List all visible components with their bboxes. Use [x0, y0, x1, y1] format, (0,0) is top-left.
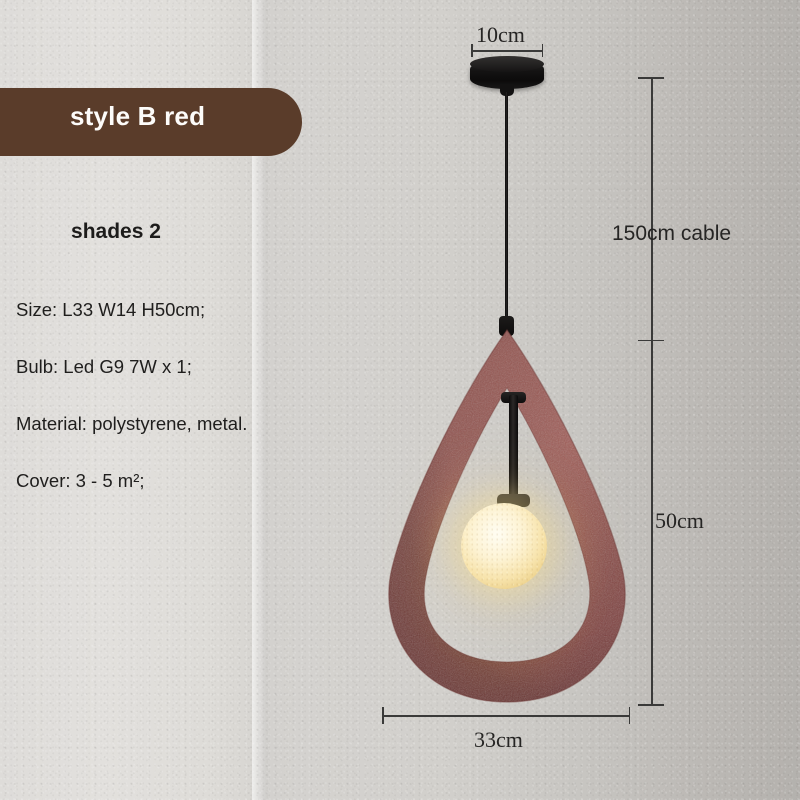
shade-width-dimension-line: [382, 715, 630, 717]
cable-length-label: 150cm cable: [612, 222, 731, 246]
canopy-width-tick-left: [471, 44, 473, 57]
canopy-width-label: 10cm: [476, 22, 525, 48]
product-image-canvas: style B red shades 2 Size: L33 W14 H50cm…: [0, 0, 800, 800]
shade-height-tick-bottom: [638, 704, 664, 706]
spec-bulb: Bulb: Led G9 7W x 1;: [16, 356, 192, 378]
shade-height-dimension-line: [651, 341, 653, 705]
shade-width-label: 33cm: [474, 727, 523, 753]
cable-length-tick-top: [638, 77, 664, 79]
light-bulb-globe: [461, 503, 547, 589]
spec-size: Size: L33 W14 H50cm;: [16, 299, 205, 321]
suspension-cable: [505, 92, 508, 330]
shade-width-tick-right: [629, 707, 631, 724]
shade-height-label: 50cm: [655, 508, 704, 534]
ceiling-canopy-top: [470, 56, 544, 72]
canopy-width-tick-right: [542, 44, 544, 57]
bulb-stem: [509, 395, 518, 499]
cable-length-dimension-line: [651, 77, 653, 341]
spec-cover: Cover: 3 - 5 m²;: [16, 470, 145, 492]
spec-material: Material: polystyrene, metal.: [16, 413, 247, 435]
shade-width-tick-left: [382, 707, 384, 724]
product-subtitle: shades 2: [0, 220, 232, 244]
canopy-width-dimension-line: [471, 50, 543, 52]
style-badge-label: style B red: [70, 101, 205, 132]
